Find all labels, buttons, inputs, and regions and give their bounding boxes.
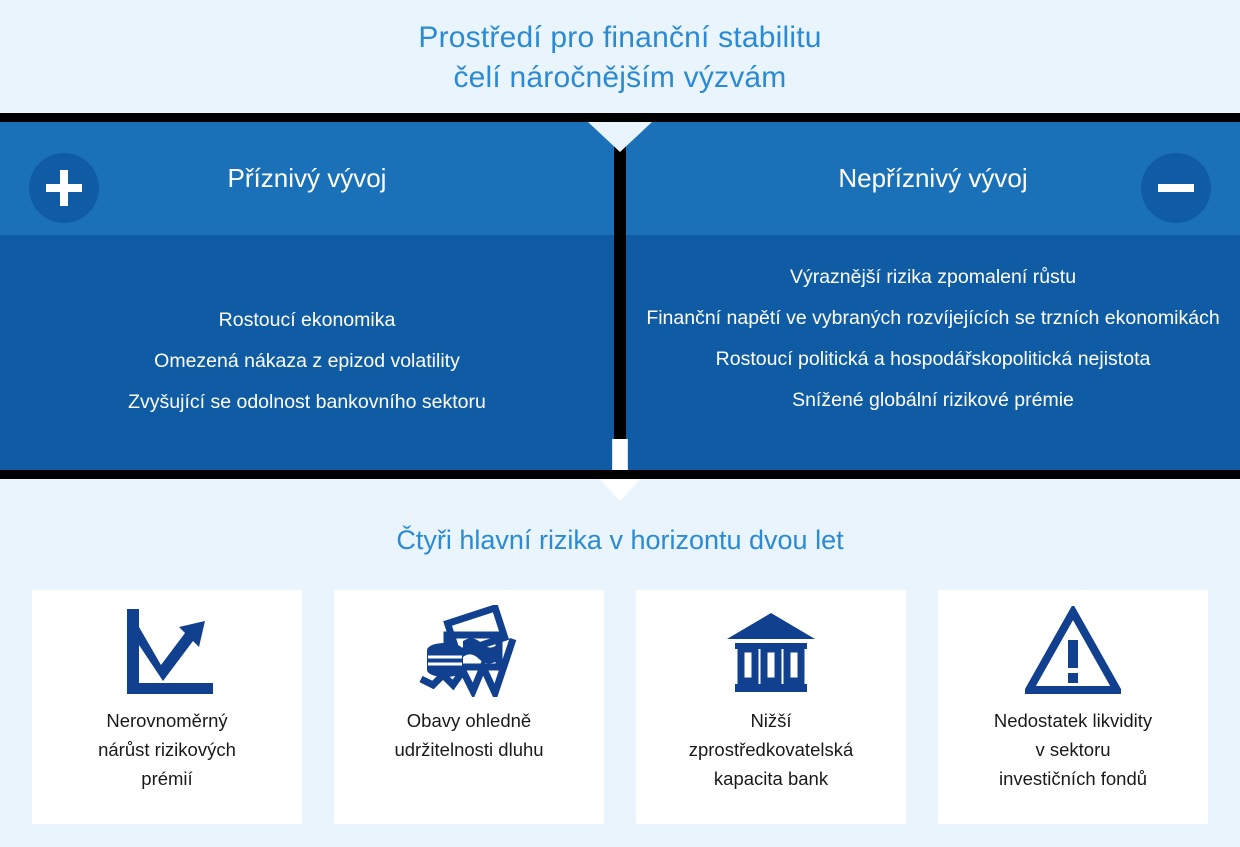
negative-item-list: Výraznější rizika zpomalení růstu Finanč…	[626, 257, 1240, 421]
risk-card-label: Nerovnoměrný nárůst rizikových prémií	[86, 706, 248, 793]
list-item: Omezená nákaza z epizod volatility	[0, 341, 614, 382]
negative-panel-header: Nepříznivý vývoj	[626, 122, 1240, 235]
comparison-band: Příznivý vývoj Rostoucí ekonomika Omezen…	[0, 113, 1240, 479]
list-item: Snížené globální rizikové prémie	[626, 380, 1240, 421]
positive-panel-title: Příznivý vývoj	[0, 122, 614, 235]
list-item: Rostoucí ekonomika	[0, 300, 614, 341]
risk-card-list: Nerovnoměrný nárůst rizikových prémií	[32, 590, 1208, 824]
risk-card-debt-sustainability: Obavy ohledně udržitelnosti dluhu	[334, 590, 604, 824]
list-item: Výraznější rizika zpomalení růstu	[626, 257, 1240, 298]
list-item: Rostoucí politická a hospodářskopolitick…	[626, 339, 1240, 380]
list-item: Finanční napětí ve vybraných rozvíjející…	[626, 298, 1240, 339]
infographic-root: Prostředí pro finanční stabilitu čelí ná…	[0, 0, 1240, 847]
positive-panel-header: Příznivý vývoj	[0, 122, 614, 235]
list-item: Zvyšující se odolnost bankovního sektoru	[0, 382, 614, 423]
bank-building-icon	[723, 596, 819, 706]
positive-panel: Příznivý vývoj Rostoucí ekonomika Omezen…	[0, 122, 614, 470]
page-title-line-2: čelí náročnějším výzvám	[0, 58, 1240, 98]
positive-item-list: Rostoucí ekonomika Omezená nákaza z epiz…	[0, 300, 614, 423]
risk-card-fund-liquidity: Nedostatek likvidity v sektoru investičn…	[938, 590, 1208, 824]
risks-heading: Čtyři hlavní rizika v horizontu dvou let	[0, 522, 1240, 558]
risk-card-bank-intermediation: Nižší zprostředkovatelská kapacita bank	[636, 590, 906, 824]
band-top-rule	[0, 113, 1240, 122]
risk-card-premium-increase: Nerovnoměrný nárůst rizikových prémií	[32, 590, 302, 824]
chart-rising-arrow-icon	[117, 596, 217, 706]
risk-card-label: Obavy ohledně udržitelnosti dluhu	[382, 706, 555, 764]
risk-card-label: Nižší zprostředkovatelská kapacita bank	[677, 706, 866, 793]
negative-panel-body: Výraznější rizika zpomalení růstu Finanč…	[626, 235, 1240, 470]
page-title: Prostředí pro finanční stabilitu čelí ná…	[0, 18, 1240, 98]
risk-card-label: Nedostatek likvidity v sektoru investičn…	[982, 706, 1164, 793]
panel-divider	[614, 122, 626, 470]
page-title-line-1: Prostředí pro finanční stabilitu	[0, 18, 1240, 58]
negative-panel-title: Nepříznivý vývoj	[626, 122, 1240, 235]
warning-triangle-icon	[1025, 596, 1121, 706]
negative-panel: Nepříznivý vývoj Výraznější rizika zpoma…	[626, 122, 1240, 470]
banknotes-coins-chart-icon	[417, 596, 521, 706]
positive-panel-body: Rostoucí ekonomika Omezená nákaza z epiz…	[0, 235, 614, 470]
band-bottom-rule	[0, 470, 1240, 479]
